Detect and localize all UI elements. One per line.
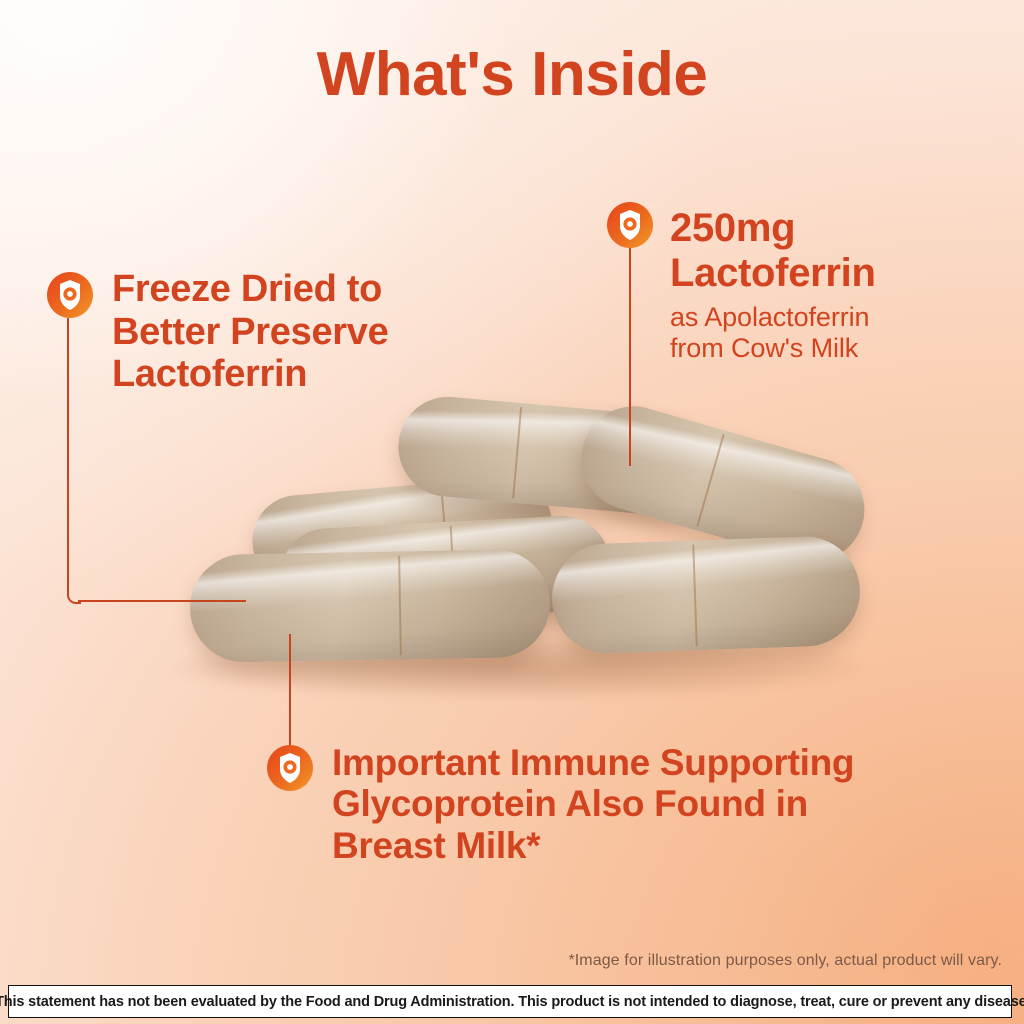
shield-badge-icon xyxy=(607,202,653,248)
shield-badge-icon xyxy=(267,745,313,791)
connector-line-freeze-dried-arm xyxy=(78,600,246,602)
connector-line-freeze-dried xyxy=(67,318,81,604)
callout-freeze-dried-headline: Freeze Dried to Better Preserve Lactofer… xyxy=(112,268,472,396)
image-disclaimer-note: *Image for illustration purposes only, a… xyxy=(568,952,1002,970)
callout-immune-support: Important Immune Supporting Glycoprotein… xyxy=(332,742,872,866)
capsule xyxy=(550,535,862,656)
shield-badge-icon xyxy=(47,272,93,318)
callout-immune-support-headline: Important Immune Supporting Glycoprotein… xyxy=(332,742,872,866)
connector-line-dosage xyxy=(629,248,631,466)
callout-freeze-dried: Freeze Dried to Better Preserve Lactofer… xyxy=(112,268,472,396)
capsule xyxy=(189,549,551,663)
callout-dosage-headline: 250mg Lactoferrin xyxy=(670,206,920,296)
fda-disclaimer-text: *This statement has not been evaluated b… xyxy=(0,994,1024,1010)
fda-disclaimer-bar: *This statement has not been evaluated b… xyxy=(8,985,1012,1018)
infographic-root: What's Inside xyxy=(0,0,1024,1024)
page-title: What's Inside xyxy=(0,44,1024,106)
callout-dosage-subtext: as Apolactoferrin from Cow's Milk xyxy=(670,302,922,366)
product-image-capsule-pile xyxy=(160,390,840,710)
callout-dosage: 250mg Lactoferrin as Apolactoferrin from… xyxy=(670,206,922,365)
connector-line-immune xyxy=(289,634,291,758)
